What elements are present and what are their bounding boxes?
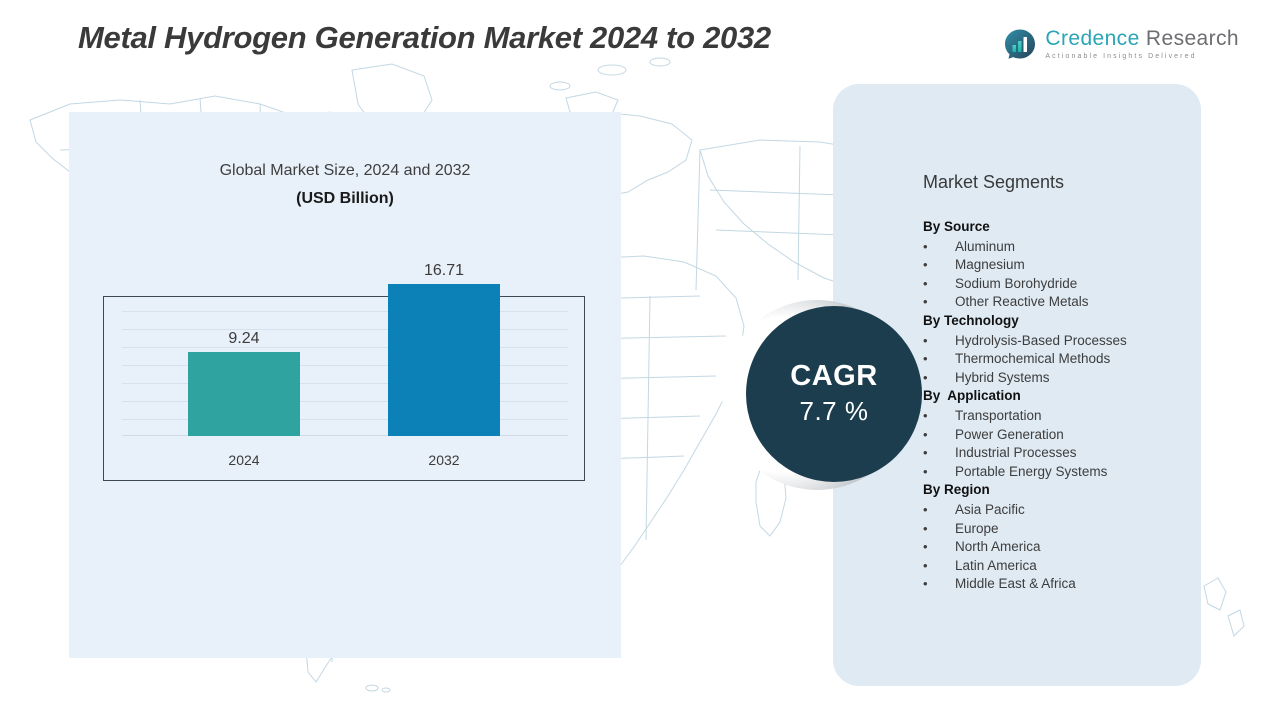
cagr-circle: CAGR 7.7 % [746, 306, 922, 482]
segment-item-label: North America [955, 538, 1191, 557]
plot-area: 9.24 2024 16.71 2032 [104, 297, 584, 480]
segment-group-title: By Application [923, 387, 1191, 406]
segment-item: •Europe [923, 520, 1191, 539]
segment-item: •Asia Pacific [923, 501, 1191, 520]
bar-2032 [388, 284, 500, 436]
segment-item: •Latin America [923, 557, 1191, 576]
bullet-icon: • [923, 557, 955, 576]
segment-item-label: Thermochemical Methods [955, 350, 1191, 369]
segment-group-technology: By Technology •Hydrolysis-Based Processe… [923, 312, 1191, 387]
segment-item-label: Asia Pacific [955, 501, 1191, 520]
chart-title: Global Market Size, 2024 and 2032 [69, 112, 621, 180]
segment-item: •Portable Energy Systems [923, 463, 1191, 482]
logo-name-part2: Research [1146, 27, 1239, 50]
bullet-icon: • [923, 332, 955, 351]
segment-item-label: Power Generation [955, 426, 1191, 445]
segment-item: •Magnesium [923, 256, 1191, 275]
segment-item-label: Transportation [955, 407, 1191, 426]
bullet-icon: • [923, 256, 955, 275]
cagr-value: 7.7 % [800, 396, 869, 427]
bar-series: 9.24 2024 16.71 2032 [104, 236, 584, 436]
segment-item: •Thermochemical Methods [923, 350, 1191, 369]
bullet-icon: • [923, 275, 955, 294]
chart-subtitle: (USD Billion) [69, 180, 621, 208]
segments-title: Market Segments [833, 84, 1201, 193]
segment-item: •Power Generation [923, 426, 1191, 445]
segment-item-label: Middle East & Africa [955, 575, 1191, 594]
segment-item: •Hydrolysis-Based Processes [923, 332, 1191, 351]
page-title: Metal Hydrogen Generation Market 2024 to… [78, 20, 771, 56]
segment-item-label: Other Reactive Metals [955, 293, 1191, 312]
bullet-icon: • [923, 463, 955, 482]
segment-item: •Middle East & Africa [923, 575, 1191, 594]
segment-item-label: Aluminum [955, 238, 1191, 257]
bar-group-2024: 9.24 2024 [188, 236, 300, 436]
segment-item: •Industrial Processes [923, 444, 1191, 463]
segment-group-title: By Region [923, 481, 1191, 500]
segment-item-label: Industrial Processes [955, 444, 1191, 463]
bar-chart-plot: 9.24 2024 16.71 2032 [103, 296, 585, 481]
segment-item: •North America [923, 538, 1191, 557]
bullet-icon: • [923, 575, 955, 594]
segment-item: •Aluminum [923, 238, 1191, 257]
segment-item-label: Europe [955, 520, 1191, 539]
segment-item: •Other Reactive Metals [923, 293, 1191, 312]
bullet-icon: • [923, 238, 955, 257]
segment-item: •Transportation [923, 407, 1191, 426]
brand-logo: Credence Research Actionable Insights De… [1004, 28, 1239, 60]
segment-item: •Sodium Borohydride [923, 275, 1191, 294]
bar-category-label: 2024 [228, 452, 259, 468]
logo-name-part1: Credence [1045, 27, 1139, 50]
bullet-icon: • [923, 293, 955, 312]
bullet-icon: • [923, 407, 955, 426]
segment-group-title: By Source [923, 218, 1191, 237]
segment-group-application: By Application •Transportation •Power Ge… [923, 387, 1191, 481]
segment-item-label: Sodium Borohydride [955, 275, 1191, 294]
segment-item-label: Latin America [955, 557, 1191, 576]
bullet-icon: • [923, 350, 955, 369]
bullet-icon: • [923, 538, 955, 557]
market-size-chart-panel: Global Market Size, 2024 and 2032 (USD B… [69, 112, 621, 658]
bullet-icon: • [923, 369, 955, 388]
logo-tagline: Actionable Insights Delivered [1045, 53, 1239, 60]
page-header: Metal Hydrogen Generation Market 2024 to… [0, 0, 1267, 82]
segment-item-label: Hydrolysis-Based Processes [955, 332, 1191, 351]
bullet-icon: • [923, 426, 955, 445]
segment-item-label: Magnesium [955, 256, 1191, 275]
segment-group-source: By Source •Aluminum •Magnesium •Sodium B… [923, 218, 1191, 312]
bullet-icon: • [923, 444, 955, 463]
cagr-label: CAGR [790, 361, 877, 391]
cagr-badge: CAGR 7.7 % [722, 300, 922, 492]
segment-item: •Hybrid Systems [923, 369, 1191, 388]
bar-2024 [188, 352, 300, 436]
bar-value-label: 9.24 [228, 330, 259, 348]
logo-name: Credence Research [1045, 28, 1239, 49]
segments-list: By Source •Aluminum •Magnesium •Sodium B… [923, 218, 1191, 594]
bar-category-label: 2032 [428, 452, 459, 468]
bar-group-2032: 16.71 2032 [388, 236, 500, 436]
bar-value-label: 16.71 [424, 262, 464, 280]
segment-item-label: Portable Energy Systems [955, 463, 1191, 482]
bullet-icon: • [923, 501, 955, 520]
segment-group-title: By Technology [923, 312, 1191, 331]
segment-item-label: Hybrid Systems [955, 369, 1191, 388]
logo-text: Credence Research Actionable Insights De… [1045, 28, 1239, 60]
bullet-icon: • [923, 520, 955, 539]
credence-bars-bubble-icon [1004, 28, 1036, 60]
segment-group-region: By Region •Asia Pacific •Europe •North A… [923, 481, 1191, 594]
